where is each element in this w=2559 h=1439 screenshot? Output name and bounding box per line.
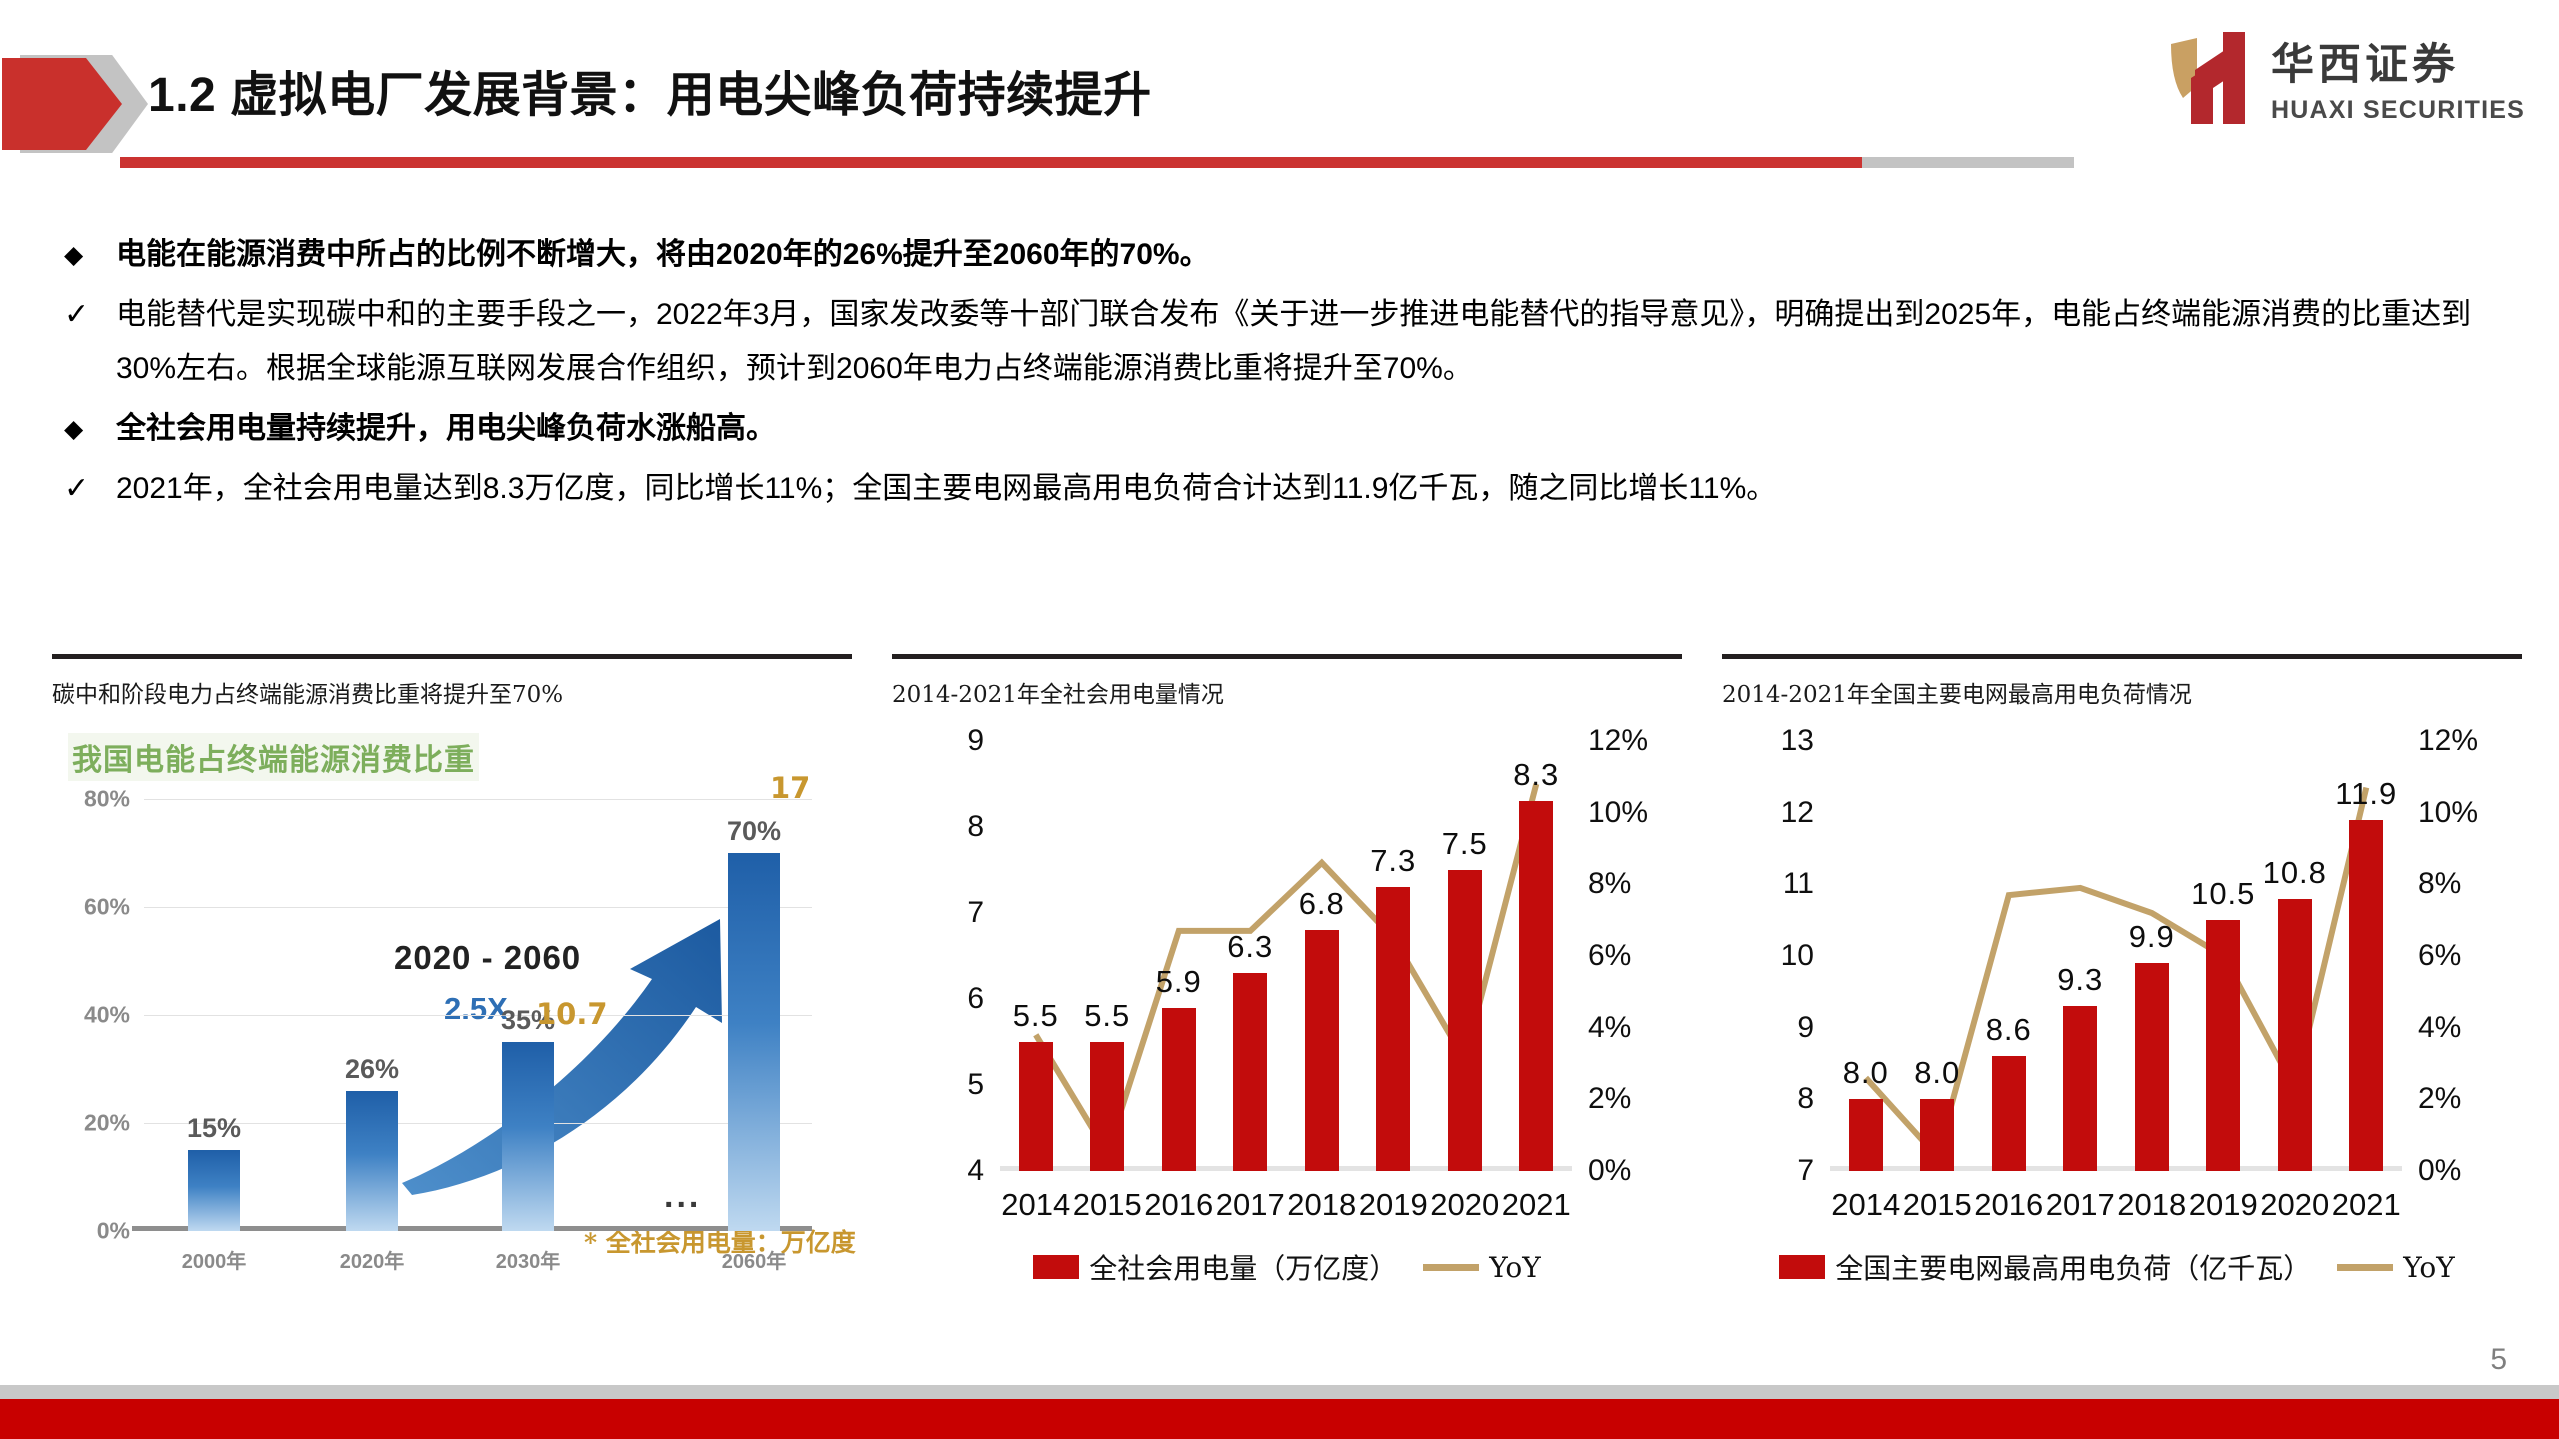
chart2-y2-tick-label: 4% bbox=[1588, 1011, 1631, 1045]
chart3-y2-tick-label: 12% bbox=[2418, 724, 2478, 758]
chart2-y2-tick-label: 2% bbox=[1588, 1082, 1631, 1116]
chart3-y2-tick-label: 4% bbox=[2418, 1011, 2461, 1045]
chart1-gridline bbox=[144, 1015, 812, 1016]
chart1-y-tick-label: 80% bbox=[84, 786, 130, 813]
chart2-x-tick-label: 2020 bbox=[1430, 1187, 1499, 1223]
chart2-x-tick-label: 2014 bbox=[1001, 1187, 1070, 1223]
bullet-marker-check: ✓ bbox=[58, 288, 116, 342]
chart3-y-tick-label: 10 bbox=[1781, 939, 1814, 973]
chart-peak-load: 789101112130%2%4%6%8%10%12%8.020148.0201… bbox=[1722, 723, 2512, 1323]
chart2-bar-label: 8.3 bbox=[1513, 757, 1559, 793]
chart3-y-tick-label: 13 bbox=[1781, 724, 1814, 758]
chart2-bar bbox=[1090, 1042, 1124, 1171]
chart3-bar bbox=[2063, 1006, 2097, 1171]
chart3-y-tick-label: 12 bbox=[1781, 796, 1814, 830]
chart2-x-tick-label: 2021 bbox=[1502, 1187, 1571, 1223]
chart1-plot-area: 2020 - 2060 2.5X ... * 全社会用电量：万亿度 0%20%4… bbox=[144, 799, 812, 1231]
chart1-bar bbox=[188, 1150, 240, 1231]
chart1-gridline bbox=[144, 1123, 812, 1124]
footer-red-band bbox=[0, 1399, 2559, 1439]
bullet-item: ◆ 全社会用电量持续提升，用电尖峰负荷水涨船高。 bbox=[58, 402, 2518, 456]
footer-gray-band bbox=[0, 1385, 2559, 1399]
chart2-legend: 全社会用电量（万亿度） YoY bbox=[892, 1247, 1682, 1287]
panel-caption: 碳中和阶段电力占终端能源消费比重将提升至70% bbox=[52, 659, 852, 709]
chart3-yoy-line bbox=[1830, 741, 2402, 1171]
chart1-bar bbox=[728, 853, 780, 1231]
chart3-y-tick-label: 11 bbox=[1783, 867, 1814, 901]
chart3-x-tick-label: 2020 bbox=[2260, 1187, 2329, 1223]
chart1-x-tick-label: 2030年 bbox=[496, 1245, 561, 1274]
chart3-bar bbox=[2278, 899, 2312, 1171]
bullet-item: ✓ 电能替代是实现碳中和的主要手段之一，2022年3月，国家发改委等十部门联合发… bbox=[58, 288, 2518, 396]
chart3-y-tick-label: 9 bbox=[1797, 1011, 1814, 1045]
bullet-marker-check: ✓ bbox=[58, 462, 116, 516]
chart2-y2-tick-label: 12% bbox=[1588, 724, 1648, 758]
chart3-y2-tick-label: 8% bbox=[2418, 867, 2461, 901]
chart3-bar-label: 10.8 bbox=[2263, 855, 2327, 891]
title-underline-gray bbox=[1862, 157, 2074, 168]
bullet-marker-diamond: ◆ bbox=[58, 402, 116, 456]
chart2-x-tick-label: 2016 bbox=[1144, 1187, 1213, 1223]
chart3-x-tick-label: 2021 bbox=[2332, 1187, 2401, 1223]
chart2-bar-label: 7.3 bbox=[1370, 843, 1416, 879]
chart1-ellipsis: ... bbox=[664, 1177, 701, 1216]
chart3-bar bbox=[1992, 1056, 2026, 1171]
chart1-annotation-17: 17 bbox=[770, 771, 810, 805]
chart3-x-tick-label: 2018 bbox=[2117, 1187, 2186, 1223]
chart1-x-tick-label: 2000年 bbox=[182, 1245, 247, 1274]
legend-item-bars: 全国主要电网最高用电负荷（亿千瓦） bbox=[1779, 1247, 2311, 1287]
chart3-bar bbox=[2206, 920, 2240, 1171]
chart2-y-tick-label: 9 bbox=[967, 724, 984, 758]
chart1-bar bbox=[502, 1042, 554, 1231]
chart3-bar-label: 9.3 bbox=[2057, 962, 2103, 998]
chart2-x-axis bbox=[1000, 1166, 1572, 1171]
chart2-bar-label: 5.5 bbox=[1084, 998, 1130, 1034]
chart3-bar bbox=[1849, 1099, 1883, 1171]
bullet-text: 2021年，全社会用电量达到8.3万亿度，同比增长11%；全国主要电网最高用电负… bbox=[116, 462, 1776, 516]
chart3-bar bbox=[1920, 1099, 1954, 1171]
chart1-gridline bbox=[144, 799, 812, 800]
chart1-annotation-10-7: 10.7 bbox=[536, 997, 608, 1031]
legend-label: YoY bbox=[2403, 1251, 2454, 1284]
chart3-x-axis bbox=[1830, 1166, 2402, 1171]
legend-item-bars: 全社会用电量（万亿度） bbox=[1033, 1247, 1397, 1287]
chart2-yoy-line bbox=[1000, 741, 1572, 1171]
chart1-annotation-multiple: 2.5X bbox=[444, 991, 508, 1027]
chart2-y-tick-label: 8 bbox=[967, 810, 984, 844]
chart3-x-tick-label: 2019 bbox=[2189, 1187, 2258, 1223]
chart3-bar-label: 8.0 bbox=[1914, 1055, 1960, 1091]
panel-total-consumption: 2014-2021年全社会用电量情况 4567890%2%4%6%8%10%12… bbox=[892, 654, 1682, 1323]
chart2-bar-label: 6.8 bbox=[1299, 886, 1345, 922]
title-underline-red bbox=[120, 157, 1862, 168]
chart3-bar-label: 11.9 bbox=[2335, 776, 2397, 812]
chart1-y-tick-label: 60% bbox=[84, 894, 130, 921]
chart1-y-tick-label: 20% bbox=[84, 1110, 130, 1137]
legend-label: YoY bbox=[1489, 1251, 1540, 1284]
chart3-bar-label: 8.0 bbox=[1843, 1055, 1889, 1091]
chart3-x-tick-label: 2017 bbox=[2046, 1187, 2115, 1223]
chart2-y2-tick-label: 8% bbox=[1588, 867, 1631, 901]
company-logo: 华西证券 HUAXI SECURITIES bbox=[2167, 28, 2525, 126]
chart1-bar-label: 15% bbox=[187, 1113, 241, 1144]
chart2-bar bbox=[1519, 801, 1553, 1171]
logo-text: 华西证券 HUAXI SECURITIES bbox=[2271, 30, 2525, 125]
chart3-plot-area: 789101112130%2%4%6%8%10%12%8.020148.0201… bbox=[1830, 741, 2402, 1171]
chart2-bar bbox=[1019, 1042, 1053, 1171]
legend-swatch-icon bbox=[1033, 1255, 1079, 1279]
bullet-text: 电能替代是实现碳中和的主要手段之一，2022年3月，国家发改委等十部门联合发布《… bbox=[116, 288, 2518, 396]
panel-caption: 2014-2021年全社会用电量情况 bbox=[892, 659, 1682, 709]
chart2-x-tick-label: 2015 bbox=[1073, 1187, 1142, 1223]
chart1-title: 我国电能占终端能源消费比重 bbox=[68, 733, 479, 781]
chart2-y2-tick-label: 0% bbox=[1588, 1154, 1631, 1188]
chart2-bar bbox=[1448, 870, 1482, 1171]
chart2-bar-label: 5.5 bbox=[1013, 998, 1059, 1034]
chart3-y2-tick-label: 6% bbox=[2418, 939, 2461, 973]
chart3-x-tick-label: 2016 bbox=[1974, 1187, 2043, 1223]
chart2-y-tick-label: 6 bbox=[967, 982, 984, 1016]
panel-caption: 2014-2021年全国主要电网最高用电负荷情况 bbox=[1722, 659, 2522, 709]
chart1-gridline bbox=[144, 1231, 812, 1232]
chart2-bar bbox=[1305, 930, 1339, 1171]
legend-line-icon bbox=[2337, 1264, 2393, 1271]
chart2-bar-label: 6.3 bbox=[1227, 929, 1273, 965]
chart2-x-tick-label: 2019 bbox=[1359, 1187, 1428, 1223]
chart2-x-tick-label: 2018 bbox=[1287, 1187, 1356, 1223]
chart2-y-tick-label: 4 bbox=[967, 1154, 984, 1188]
chart-electricity-share: 我国电能占终端能源消费比重 2020 - 2060 2.5X ... * 全社会… bbox=[52, 727, 842, 1297]
chart3-y2-tick-label: 10% bbox=[2418, 796, 2478, 830]
logo-english-name: HUAXI SECURITIES bbox=[2271, 96, 2525, 125]
legend-label: 全国主要电网最高用电负荷（亿千瓦） bbox=[1835, 1247, 2311, 1287]
bullet-text: 电能在能源消费中所占的比例不断增大，将由2020年的26%提升至2060年的70… bbox=[116, 228, 1210, 282]
chart1-annotation-period: 2020 - 2060 bbox=[394, 939, 581, 977]
chart1-bar bbox=[346, 1091, 398, 1231]
chart1-gridline bbox=[144, 907, 812, 908]
chart3-bar bbox=[2135, 963, 2169, 1171]
chart3-bar-label: 8.6 bbox=[1986, 1012, 2032, 1048]
legend-item-line: YoY bbox=[1423, 1251, 1540, 1284]
chart3-y-tick-label: 7 bbox=[1797, 1154, 1814, 1188]
chart2-bar bbox=[1162, 1008, 1196, 1171]
legend-label: 全社会用电量（万亿度） bbox=[1089, 1247, 1397, 1287]
page-number: 5 bbox=[2490, 1343, 2507, 1377]
chart3-bar-label: 10.5 bbox=[2191, 876, 2255, 912]
chart3-bar-label: 9.9 bbox=[2129, 919, 2175, 955]
chart3-legend: 全国主要电网最高用电负荷（亿千瓦） YoY bbox=[1722, 1247, 2512, 1287]
panel-electricity-share: 碳中和阶段电力占终端能源消费比重将提升至70% 我国电能占终端能源消费比重 20… bbox=[52, 654, 852, 1297]
chart2-plot-area: 4567890%2%4%6%8%10%12%5.520145.520155.92… bbox=[1000, 741, 1572, 1171]
chart2-y2-tick-label: 6% bbox=[1588, 939, 1631, 973]
chart3-x-tick-label: 2015 bbox=[1903, 1187, 1972, 1223]
slide: 1.2 虚拟电厂发展背景：用电尖峰负荷持续提升 华西证券 HUAXI SECUR… bbox=[0, 0, 2559, 1439]
chart1-y-tick-label: 0% bbox=[97, 1218, 130, 1245]
chart3-x-tick-label: 2014 bbox=[1831, 1187, 1900, 1223]
chart2-y2-tick-label: 10% bbox=[1588, 796, 1648, 830]
panel-peak-load: 2014-2021年全国主要电网最高用电负荷情况 789101112130%2%… bbox=[1722, 654, 2522, 1323]
chart3-y2-tick-label: 2% bbox=[2418, 1082, 2461, 1116]
chart1-bar-label: 70% bbox=[727, 816, 781, 847]
chart3-y2-tick-label: 0% bbox=[2418, 1154, 2461, 1188]
chart-total-consumption: 4567890%2%4%6%8%10%12%5.520145.520155.92… bbox=[892, 723, 1682, 1323]
bullet-list: ◆ 电能在能源消费中所占的比例不断增大，将由2020年的26%提升至2060年的… bbox=[58, 228, 2518, 522]
legend-swatch-icon bbox=[1779, 1255, 1825, 1279]
bullet-item: ◆ 电能在能源消费中所占的比例不断增大，将由2020年的26%提升至2060年的… bbox=[58, 228, 2518, 282]
chart2-bar bbox=[1233, 973, 1267, 1171]
chart2-y-tick-label: 5 bbox=[967, 1068, 984, 1102]
chart1-bar-label: 26% bbox=[345, 1054, 399, 1085]
chart1-y-tick-label: 40% bbox=[84, 1002, 130, 1029]
bullet-text: 全社会用电量持续提升，用电尖峰负荷水涨船高。 bbox=[116, 402, 776, 456]
chart1-x-tick-label: 2020年 bbox=[340, 1245, 405, 1274]
page-title: 1.2 虚拟电厂发展背景：用电尖峰负荷持续提升 bbox=[148, 55, 1152, 125]
bullet-item: ✓ 2021年，全社会用电量达到8.3万亿度，同比增长11%；全国主要电网最高用… bbox=[58, 462, 2518, 516]
chart3-y-tick-label: 8 bbox=[1797, 1082, 1814, 1116]
chart2-bar bbox=[1376, 887, 1410, 1171]
chart2-y-tick-label: 7 bbox=[967, 896, 984, 930]
chart2-x-tick-label: 2017 bbox=[1216, 1187, 1285, 1223]
huaxi-h-mark-icon bbox=[2167, 28, 2249, 126]
bullet-marker-diamond: ◆ bbox=[58, 228, 116, 282]
chart2-bar-label: 7.5 bbox=[1442, 826, 1488, 862]
logo-chinese-name: 华西证券 bbox=[2271, 30, 2459, 92]
chart1-x-tick-label: 2060年 bbox=[722, 1245, 787, 1274]
chart3-bar bbox=[2349, 820, 2383, 1171]
legend-line-icon bbox=[1423, 1264, 1479, 1271]
legend-item-line: YoY bbox=[2337, 1251, 2454, 1284]
chart2-bar-label: 5.9 bbox=[1156, 964, 1202, 1000]
